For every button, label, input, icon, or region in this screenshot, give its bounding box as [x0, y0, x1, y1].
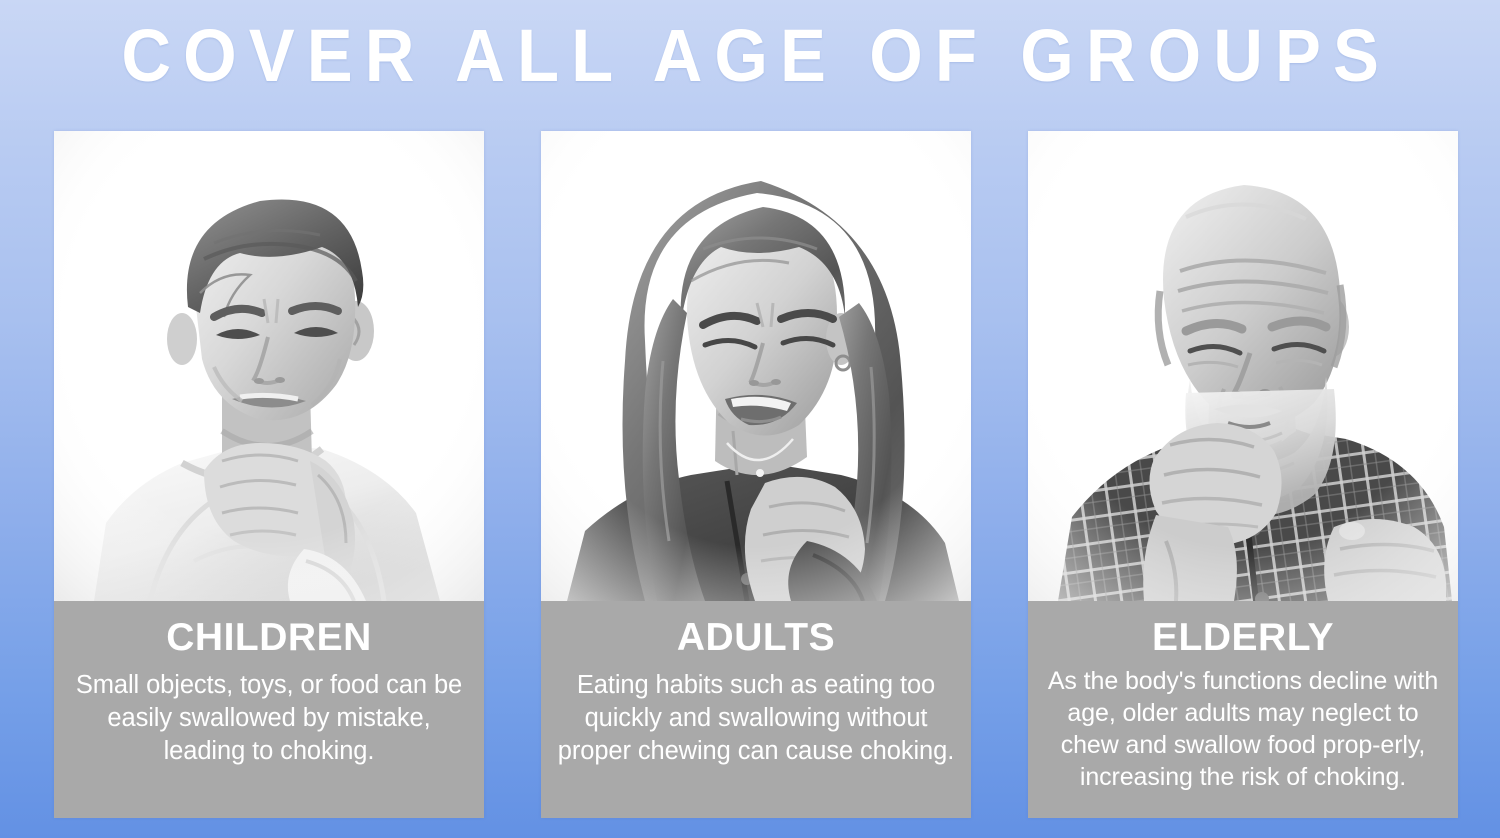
caption-children: CHILDREN Small objects, toys, or food ca… — [54, 601, 484, 818]
poster-root: COVER ALL AGE OF GROUPS — [0, 0, 1500, 838]
photo-elderly — [1028, 131, 1458, 601]
caption-adults: ADULTS Eating habits such as eating too … — [541, 601, 971, 818]
card-title-adults: ADULTS — [677, 615, 835, 661]
card-body-elderly: As the body's functions decline with age… — [1042, 665, 1444, 793]
age-group-card-row: CHILDREN Small objects, toys, or food ca… — [54, 131, 1458, 818]
age-group-card-elderly[interactable]: ELDERLY As the body's functions decline … — [1028, 131, 1458, 818]
age-group-card-adults[interactable]: ADULTS Eating habits such as eating too … — [541, 131, 971, 818]
card-body-adults: Eating habits such as eating too quickly… — [555, 669, 957, 768]
page-title: COVER ALL AGE OF GROUPS — [109, 19, 1391, 93]
photo-adults — [541, 131, 971, 601]
card-title-elderly: ELDERLY — [1152, 615, 1334, 661]
card-body-children: Small objects, toys, or food can be easi… — [68, 669, 470, 768]
poster-header: COVER ALL AGE OF GROUPS — [0, 0, 1500, 112]
card-title-children: CHILDREN — [166, 615, 372, 661]
age-group-card-children[interactable]: CHILDREN Small objects, toys, or food ca… — [54, 131, 484, 818]
child-choking-illustration — [54, 131, 484, 601]
caption-elderly: ELDERLY As the body's functions decline … — [1028, 601, 1458, 818]
photo-children — [54, 131, 484, 601]
elderly-coughing-illustration — [1028, 131, 1458, 601]
adult-choking-illustration — [541, 131, 971, 601]
